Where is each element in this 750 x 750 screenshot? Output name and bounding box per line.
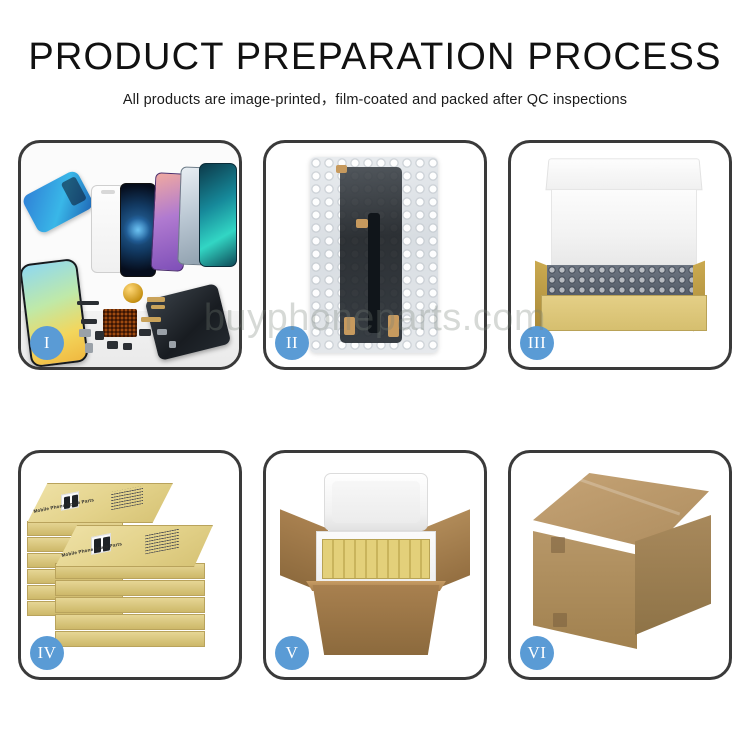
flex-cable xyxy=(368,213,380,333)
box-lid-white xyxy=(545,158,702,190)
foam-sheet xyxy=(551,189,697,267)
box-top-face-front xyxy=(55,525,213,567)
bubble-wrap-layer xyxy=(547,265,701,297)
header: PRODUCT PREPARATION PROCESS All products… xyxy=(0,38,750,109)
part-flex-cable xyxy=(147,297,165,302)
part-screw-set xyxy=(169,341,176,348)
part-strip xyxy=(81,319,97,324)
part-flex-cable xyxy=(151,305,165,309)
ic-chip-grid xyxy=(103,309,137,337)
step-badge-2: II xyxy=(275,326,309,360)
bubble-wrap-bag xyxy=(310,157,438,353)
carton-tape-patch xyxy=(553,613,567,627)
box-top-face-back xyxy=(27,483,173,523)
phone-teal xyxy=(199,163,237,267)
kraft-box-front xyxy=(541,295,707,331)
part-sim-tray xyxy=(85,343,93,353)
carton-body xyxy=(304,585,448,655)
part-flex-cable xyxy=(141,317,161,322)
step-panel-3: III xyxy=(508,140,732,370)
step-panel-2: II xyxy=(263,140,487,370)
step-panel-4: Mobile Phone Spare Parts Mobile Phone Sp… xyxy=(18,450,242,680)
connector-tab xyxy=(388,315,399,337)
spare-parts-cluster xyxy=(77,295,187,357)
packed-yellow-boxes xyxy=(322,539,430,579)
page-title: PRODUCT PREPARATION PROCESS xyxy=(0,38,750,78)
blue-display-assembly xyxy=(21,169,95,235)
retail-box-stack: Mobile Phone Spare Parts Mobile Phone Sp… xyxy=(27,467,233,663)
styrofoam-lid xyxy=(324,473,428,531)
part-connector xyxy=(139,329,151,336)
adhesive-tab xyxy=(336,165,347,173)
step-panel-5: V xyxy=(263,450,487,680)
part-metal-shield xyxy=(157,329,167,335)
stacked-box xyxy=(55,631,205,647)
step-badge-5: V xyxy=(275,636,309,670)
connector-tab xyxy=(344,317,355,335)
stacked-box xyxy=(55,614,205,630)
speaker-component xyxy=(123,283,143,303)
process-steps-grid: I II xyxy=(18,140,732,680)
step-badge-3: III xyxy=(520,326,554,360)
product-preparation-infographic: PRODUCT PREPARATION PROCESS All products… xyxy=(0,0,750,750)
step-badge-4: IV xyxy=(30,636,64,670)
carton-front-face xyxy=(533,531,637,649)
part-button xyxy=(123,343,132,350)
part-small-chip xyxy=(95,331,104,340)
step-badge-6: VI xyxy=(520,636,554,670)
step-panel-6: VI xyxy=(508,450,732,680)
stacked-box xyxy=(55,580,205,596)
carton-tape-patch xyxy=(551,537,565,553)
stacked-box xyxy=(55,597,205,613)
step-panel-1: I xyxy=(18,140,242,370)
page-subtitle: All products are image-printed，film-coat… xyxy=(0,88,750,109)
step-badge-1: I xyxy=(30,326,64,360)
part-strip xyxy=(77,301,99,305)
part-camera-module xyxy=(107,341,118,349)
part-metal-bracket xyxy=(79,329,91,337)
adhesive-tab xyxy=(356,219,368,228)
